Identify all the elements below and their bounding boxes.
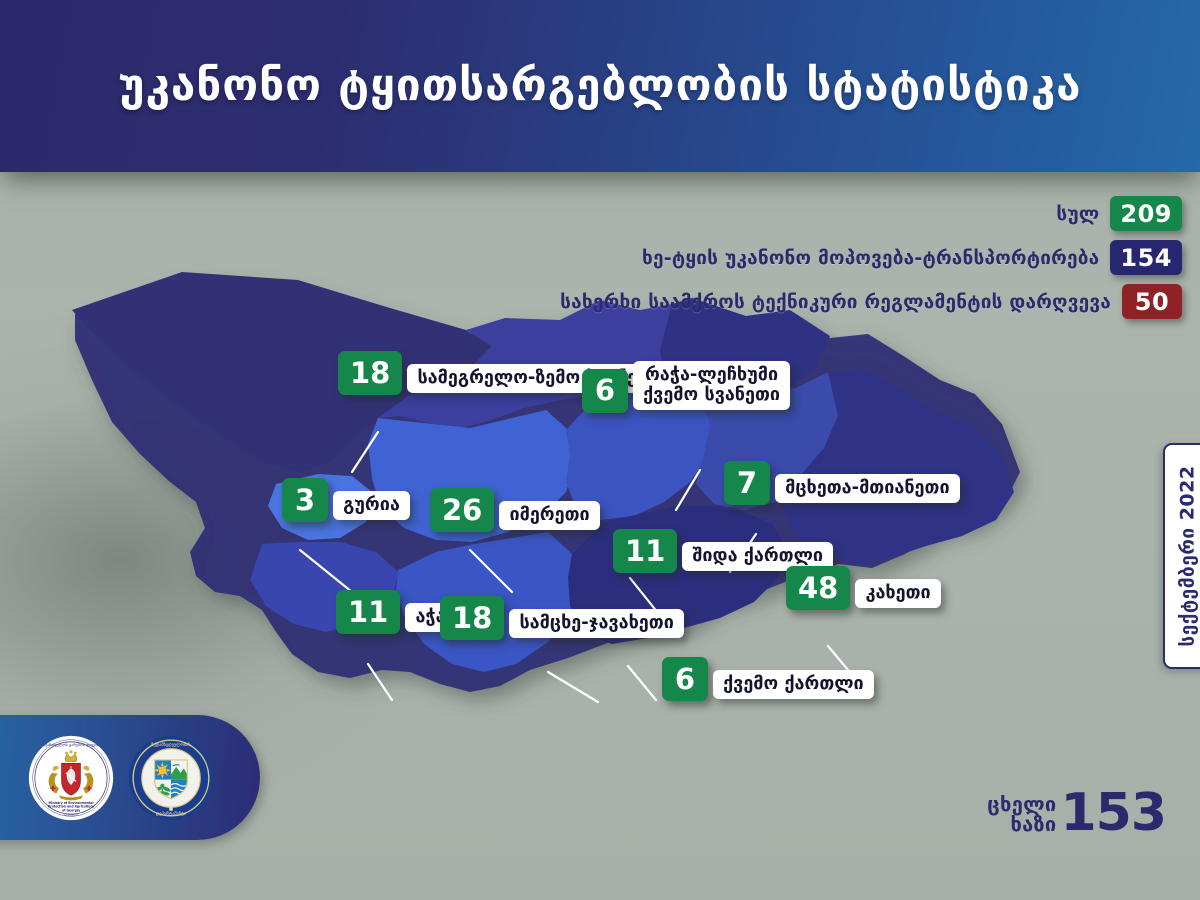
marker-count-kvemo-kartli: 6: [662, 657, 708, 701]
page-title: უკანონო ტყითსარგებლობის სტატისტიკა: [118, 62, 1081, 110]
legend-row-total: სულ 209: [1056, 196, 1182, 231]
hotline-number: 153: [1060, 790, 1166, 838]
marker-count-imereti: 26: [430, 488, 494, 532]
map-marker-imereti: 26 იმერეთი: [430, 488, 600, 532]
legend-row-sawmill: სახერხი საამქროს ტექნიკური რეგლამენტის დ…: [560, 284, 1182, 319]
marker-label-mtskheta-mtianeti: მცხეთა-მთიანეთი: [775, 474, 960, 503]
status-badge-total: 209: [1110, 196, 1182, 231]
ministry-of-environmental-protection-and-agriculture-logo: საქართველოს გარემოს დაცვისა Ministry of …: [28, 735, 114, 821]
svg-text:საქართველო: საქართველო: [64, 813, 79, 816]
marker-label-line2: ქვემო სვანეთი: [643, 384, 780, 405]
status-badge-sawmill: 50: [1122, 284, 1182, 319]
marker-label-kakheti: კახეთი: [855, 579, 940, 608]
hotline-words: ცხელი ხაზი: [987, 794, 1056, 835]
marker-label-guria: გურია: [333, 491, 410, 520]
header-banner: უკანონო ტყითსარგებლობის სტატისტიკა: [0, 0, 1200, 172]
map-marker-racha-lechkhumi: 6 რაჭა-ლეჩხუმიქვემო სვანეთი: [582, 365, 790, 413]
marker-count-racha-lechkhumi: 6: [582, 369, 628, 413]
date-tab-label: სექტემბერი 2022: [1177, 465, 1199, 646]
marker-label-samtskhe-javakheti: სამცხე-ჯავახეთი: [509, 609, 683, 638]
legend-label-transport: ხე-ტყის უკანონო მოპოვება-ტრანსპორტირება: [642, 247, 1099, 269]
map-marker-samtskhe-javakheti: 18 სამცხე-ჯავახეთი: [440, 596, 684, 640]
legend-label-sawmill: სახერხი საამქროს ტექნიკური რეგლამენტის დ…: [560, 291, 1111, 313]
map-marker-mtskheta-mtianeti: 7 მცხეთა-მთიანეთი: [724, 461, 960, 505]
environmental-supervision-department-seal: ზედამხედველობის დეპარტამენტი: [128, 735, 214, 821]
marker-count-kakheti: 48: [786, 566, 850, 610]
hotline-block: ცხელი ხაზი 153: [987, 790, 1166, 838]
map-marker-guria: 3 გურია: [282, 478, 410, 522]
marker-label-imereti: იმერეთი: [499, 501, 599, 530]
marker-count-mtskheta-mtianeti: 7: [724, 461, 770, 505]
marker-label-line1: რაჭა-ლეჩხუმი: [645, 364, 778, 385]
svg-text:ზედამხედველობის: ზედამხედველობის: [151, 743, 191, 748]
marker-count-samtskhe-javakheti: 18: [440, 596, 504, 640]
date-tab: სექტემბერი 2022: [1163, 443, 1200, 669]
marker-count-adjara: 11: [336, 590, 400, 634]
svg-text:of Georgia: of Georgia: [62, 808, 80, 812]
marker-count-guria: 3: [282, 478, 328, 522]
hotline-line1: ცხელი: [987, 794, 1056, 814]
marker-count-samegrelo-zemo-svaneti: 18: [338, 351, 402, 395]
svg-text:საქართველოს გარემოს დაცვისა: საქართველოს გარემოს დაცვისა: [41, 742, 101, 747]
marker-label-kvemo-kartli: ქვემო ქართლი: [713, 670, 874, 699]
logo-bar: საქართველოს გარემოს დაცვისა Ministry of …: [0, 715, 260, 840]
infographic-canvas: უკანონო ტყითსარგებლობის სტატისტიკა: [0, 0, 1200, 900]
marker-label-racha-lechkhumi: რაჭა-ლეჩხუმიქვემო სვანეთი: [633, 361, 790, 410]
legend-label-total: სულ: [1056, 203, 1099, 225]
status-badge-transport: 154: [1110, 240, 1182, 275]
svg-text:დეპარტამენტი: დეპარტამენტი: [156, 811, 187, 816]
map-marker-kakheti: 48 კახეთი: [786, 566, 941, 610]
legend: სულ 209 ხე-ტყის უკანონო მოპოვება-ტრანსპო…: [560, 196, 1182, 319]
legend-row-transport: ხე-ტყის უკანონო მოპოვება-ტრანსპორტირება …: [642, 240, 1182, 275]
marker-count-shida-kartli: 11: [613, 529, 677, 573]
map-marker-kvemo-kartli: 6 ქვემო ქართლი: [662, 657, 874, 701]
hotline-line2: ხაზი: [987, 814, 1056, 834]
